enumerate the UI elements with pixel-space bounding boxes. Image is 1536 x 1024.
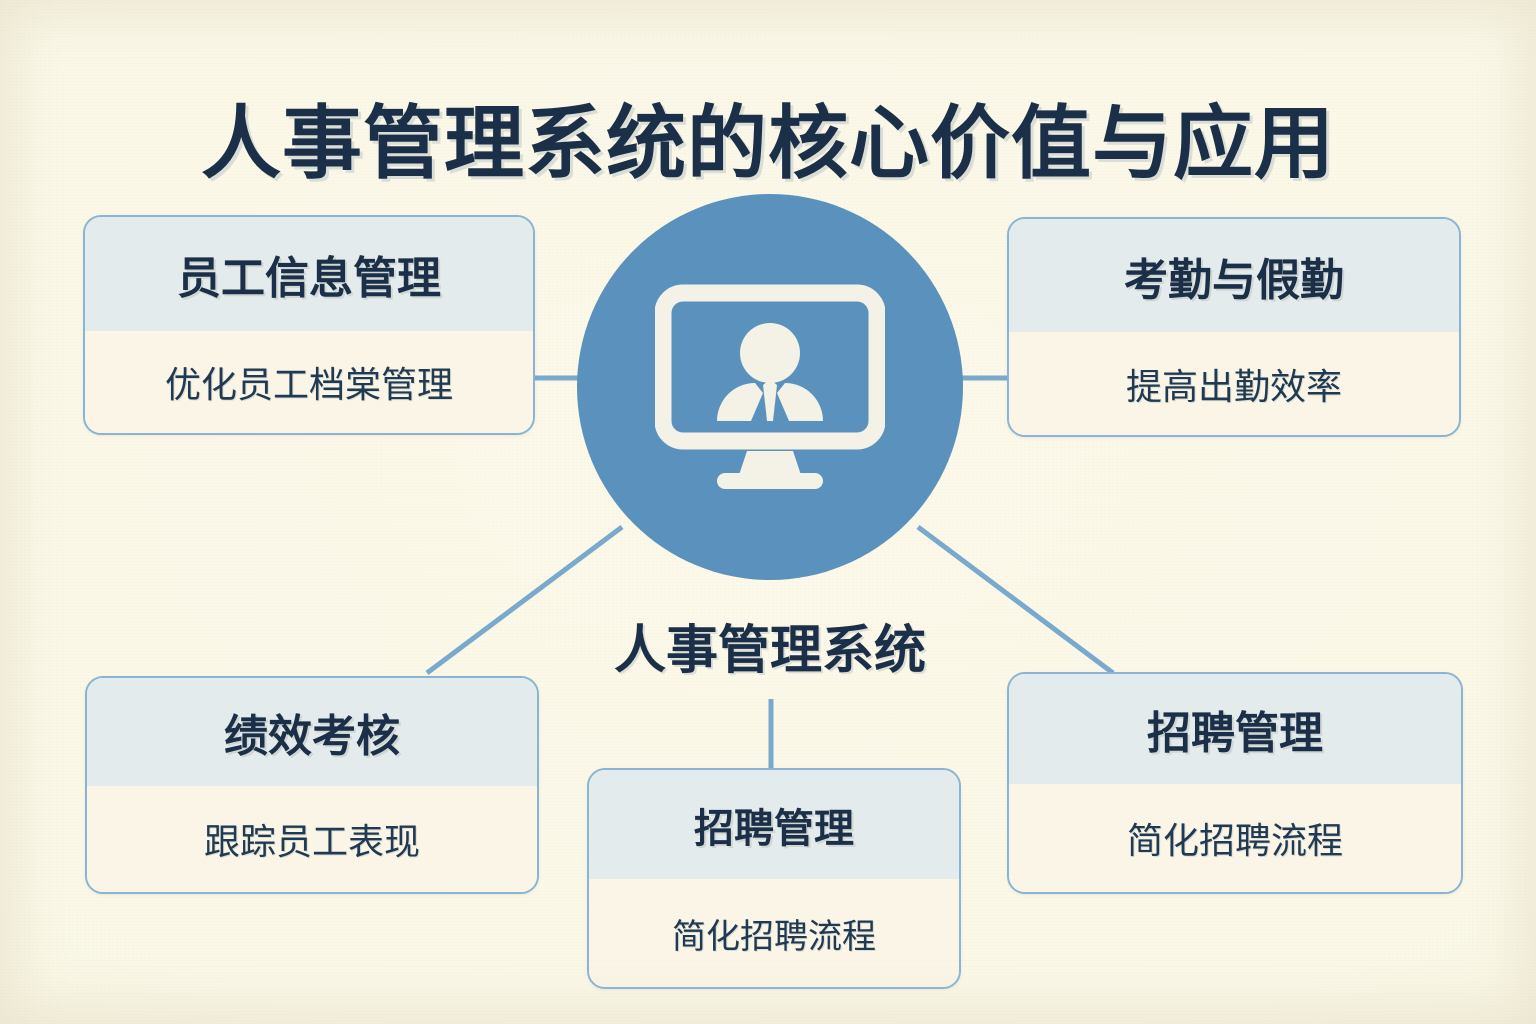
node-title-attendance: 考勤与假勤 bbox=[1009, 219, 1459, 332]
node-subtitle-performance: 跟踪员工表现 bbox=[87, 786, 537, 892]
node-card-performance[interactable]: 绩效考核 跟踪员工表现 bbox=[85, 676, 539, 894]
hub-label: 人事管理系统 bbox=[470, 608, 1070, 683]
node-card-employee[interactable]: 员工信息管理 优化员工档棠管理 bbox=[83, 215, 535, 435]
hub-circle[interactable] bbox=[577, 194, 963, 580]
node-title-recruit-center: 招聘管理 bbox=[589, 770, 959, 879]
monitor-person-icon bbox=[655, 275, 885, 500]
node-subtitle-recruit-center: 简化招聘流程 bbox=[589, 879, 959, 987]
node-card-recruit-right[interactable]: 招聘管理 简化招聘流程 bbox=[1007, 672, 1463, 894]
node-title-employee: 员工信息管理 bbox=[85, 217, 533, 331]
node-card-recruit-center[interactable]: 招聘管理 简化招聘流程 bbox=[587, 768, 961, 989]
node-subtitle-recruit-right: 简化招聘流程 bbox=[1009, 784, 1461, 892]
node-subtitle-employee: 优化员工档棠管理 bbox=[85, 331, 533, 433]
diagram-canvas: 人事管理系统的核心价值与应用 bbox=[0, 0, 1536, 1024]
node-card-attendance[interactable]: 考勤与假勤 提高出勤效率 bbox=[1007, 217, 1461, 437]
node-title-recruit-right: 招聘管理 bbox=[1009, 674, 1461, 784]
node-title-performance: 绩效考核 bbox=[87, 678, 537, 786]
node-subtitle-attendance: 提高出勤效率 bbox=[1009, 332, 1459, 435]
